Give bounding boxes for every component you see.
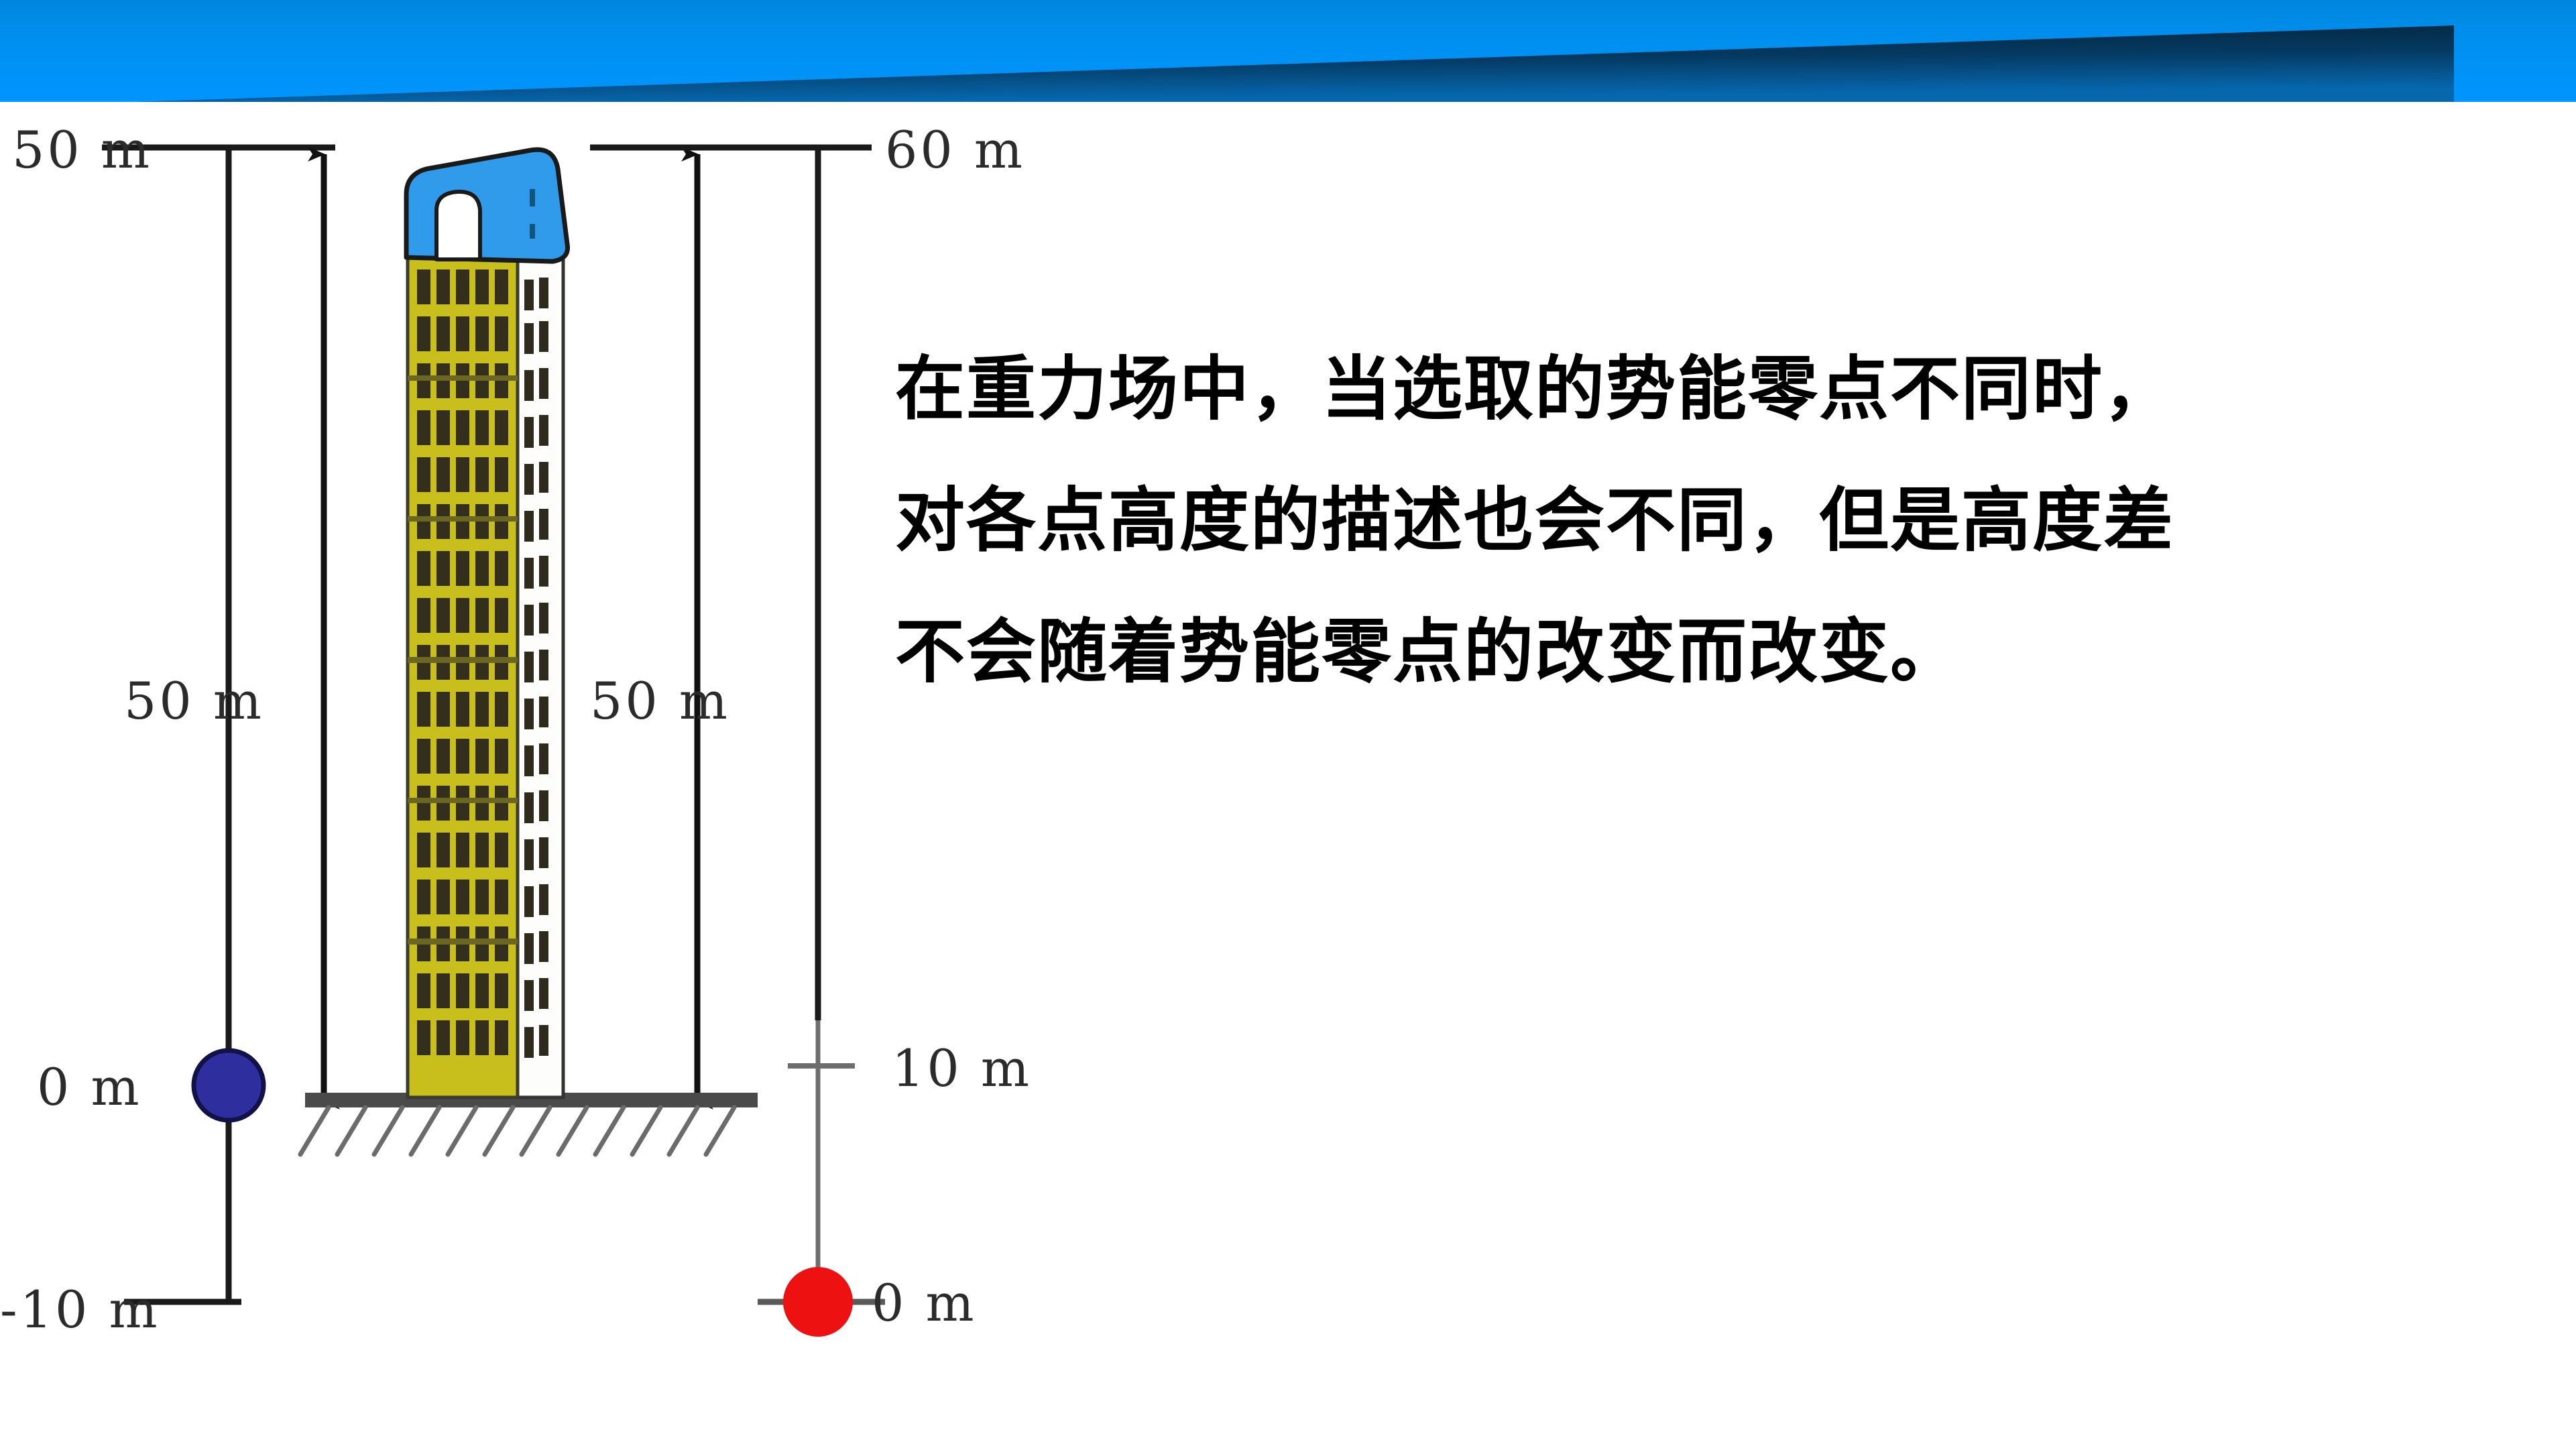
paragraph-line-1: 在重力场中，当选取的势能零点不同时， <box>895 323 2504 455</box>
slide-body: 50 m 60 m 50 m 50 m 0 m 10 m -10 m 0 m 在… <box>0 102 2576 1448</box>
label-left-top: 50 m <box>12 120 152 180</box>
label-left-bottom: -10 m <box>0 1280 160 1339</box>
ground-line <box>300 1093 758 1154</box>
label-right-dimension: 50 m <box>590 671 730 731</box>
paragraph-line-2: 对各点高度的描述也会不同，但是高度差 <box>895 455 2504 586</box>
label-right-ground: 10 m <box>892 1038 1032 1098</box>
label-left-dimension: 50 m <box>124 671 264 731</box>
building-illustration <box>406 149 568 1097</box>
right-zero-marker <box>783 1267 853 1337</box>
header-banner <box>0 0 2576 102</box>
header-navy-wedge <box>0 0 2454 102</box>
height-reference-diagram: 50 m 60 m 50 m 50 m 0 m 10 m -10 m 0 m <box>0 102 1140 1448</box>
paragraph-line-3: 不会随着势能零点的改变而改变。 <box>895 586 2504 717</box>
label-right-top: 60 m <box>885 120 1025 180</box>
slide-paragraph: 在重力场中，当选取的势能零点不同时， 对各点高度的描述也会不同，但是高度差 不会… <box>895 323 2504 717</box>
left-zero-marker <box>194 1050 264 1120</box>
label-right-zero: 0 m <box>872 1273 977 1333</box>
label-left-zero: 0 m <box>37 1057 142 1117</box>
